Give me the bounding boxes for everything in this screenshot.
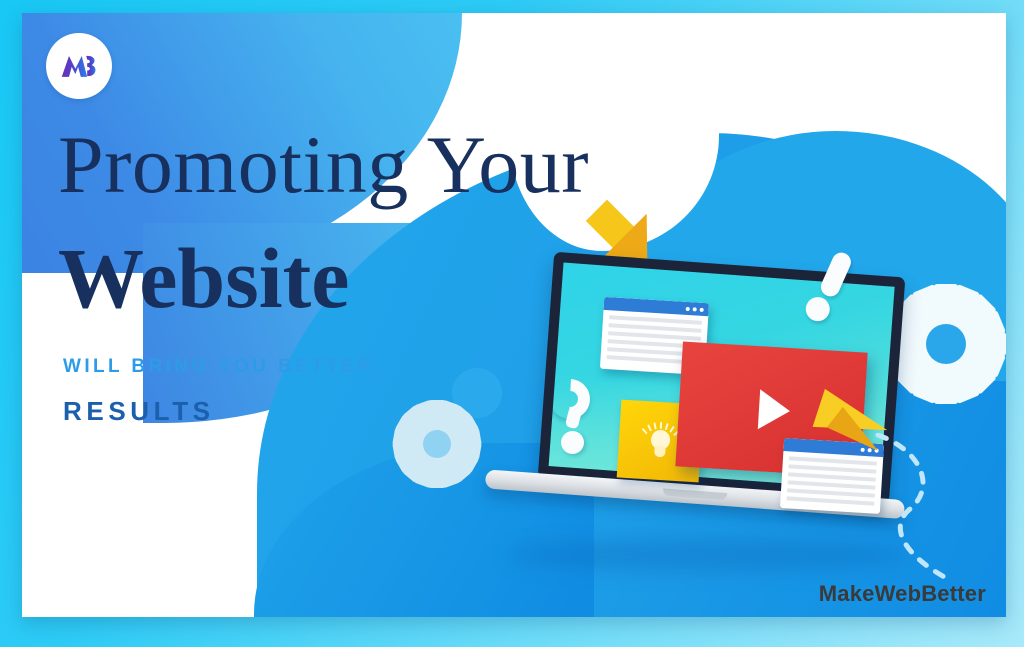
lightbulb-icon — [642, 420, 678, 462]
makewebbetter-logo-icon — [59, 52, 99, 80]
lightbulb-ray — [660, 422, 662, 429]
lightbulb-ray — [665, 423, 669, 430]
banner-card: Promoting Your Website WILL BRING YOU BE… — [22, 13, 1006, 617]
page-title-line-2: Website — [58, 237, 349, 320]
lightbulb-ray — [669, 426, 675, 433]
play-icon — [758, 389, 791, 431]
question-mark-icon — [546, 379, 602, 455]
gear-icon-left — [394, 401, 480, 487]
lightbulb-ray — [642, 428, 648, 435]
subheading-line-1: WILL BRING YOU BETTER — [63, 356, 374, 378]
lightbulb-ray — [653, 422, 656, 429]
logo — [46, 33, 112, 99]
dashed-trail — [870, 433, 990, 583]
subheading-line-2: RESULTS — [63, 396, 215, 427]
brand-wordmark: MakeWebBetter — [819, 581, 986, 607]
page-title-line-1: Promoting Your — [58, 126, 589, 205]
lightbulb-ray — [647, 424, 652, 431]
promo-banner: Promoting Your Website WILL BRING YOU BE… — [0, 0, 1024, 647]
